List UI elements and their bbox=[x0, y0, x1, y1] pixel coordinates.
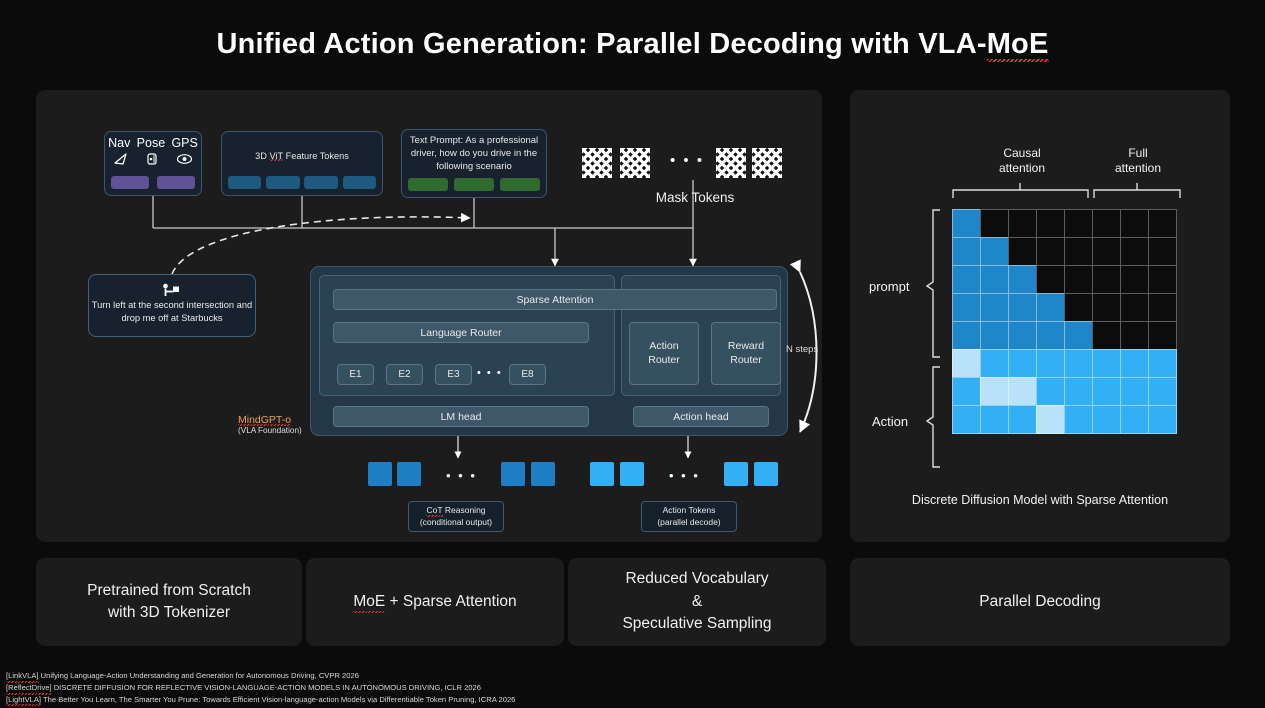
attention-cell bbox=[952, 321, 981, 350]
cot-output-token bbox=[531, 462, 555, 486]
attention-cell bbox=[1036, 237, 1065, 266]
cot-caption-subtitle: (conditional output) bbox=[420, 517, 492, 529]
footnote-tag: [ReflectDrive] bbox=[6, 682, 52, 694]
action-router-box: Action Router bbox=[629, 322, 699, 385]
attention-matrix-row bbox=[952, 377, 1176, 405]
attention-matrix-row bbox=[952, 265, 1176, 293]
mask-token bbox=[752, 148, 782, 178]
vla-model-block: Sparse Attention Language Router E1 E2 E… bbox=[310, 266, 788, 436]
text-token bbox=[500, 178, 540, 191]
summary-2-line2: & bbox=[692, 593, 702, 610]
attention-cell bbox=[1064, 265, 1093, 294]
attention-cell bbox=[1036, 349, 1065, 378]
attention-cell bbox=[980, 405, 1009, 434]
full-attention-line1: Full bbox=[1128, 146, 1147, 160]
causal-attention-line2: attention bbox=[999, 161, 1045, 175]
attention-cell bbox=[1092, 349, 1121, 378]
attention-cell bbox=[1148, 377, 1177, 406]
footnote-tag: [LinkVLA] bbox=[6, 670, 39, 682]
attention-cell bbox=[1036, 377, 1065, 406]
attention-cell bbox=[980, 321, 1009, 350]
language-router-bar: Language Router bbox=[333, 322, 589, 343]
attention-cell bbox=[980, 349, 1009, 378]
attention-cell bbox=[1008, 237, 1037, 266]
action-head-bar: Action head bbox=[633, 406, 769, 427]
vit-label-pre: 3D bbox=[255, 151, 269, 161]
attention-cell bbox=[952, 237, 981, 266]
attention-cell bbox=[1092, 405, 1121, 434]
attention-matrix-row bbox=[952, 321, 1176, 349]
attention-cell bbox=[1064, 209, 1093, 238]
reward-router-box: Reward Router bbox=[711, 322, 781, 385]
nav-header-gps: GPS bbox=[171, 136, 197, 150]
attention-cell bbox=[1092, 237, 1121, 266]
attention-cell bbox=[980, 209, 1009, 238]
nav-token bbox=[111, 176, 149, 189]
attention-cell bbox=[1008, 321, 1037, 350]
footnote-text: Unifying Language-Action Understanding a… bbox=[39, 671, 359, 680]
full-attention-line2: attention bbox=[1115, 161, 1161, 175]
causal-attention-label: Causal attention bbox=[952, 146, 1092, 176]
attention-cell bbox=[1008, 377, 1037, 406]
text-token bbox=[454, 178, 494, 191]
mask-token bbox=[620, 148, 650, 178]
attention-cell bbox=[980, 237, 1009, 266]
attention-cell bbox=[1120, 293, 1149, 322]
attention-cell bbox=[1148, 293, 1177, 322]
vit-label-post: Feature Tokens bbox=[283, 151, 349, 161]
attention-cell bbox=[1120, 265, 1149, 294]
attention-cell bbox=[980, 265, 1009, 294]
attention-cell bbox=[1008, 209, 1037, 238]
cot-caption-flagged: CoT bbox=[426, 505, 442, 517]
summary-1-flagged: MoE bbox=[353, 591, 385, 613]
vit-label-flagged: ViT bbox=[269, 151, 283, 161]
attention-matrix-row bbox=[952, 405, 1176, 433]
attention-cell bbox=[1008, 293, 1037, 322]
action-router-line1: Action bbox=[649, 340, 678, 352]
action-tokens-caption: Action Tokens (parallel decode) bbox=[641, 501, 737, 532]
attention-cell bbox=[952, 265, 981, 294]
action-caption-title: Action Tokens bbox=[663, 505, 716, 517]
attention-cell bbox=[1092, 321, 1121, 350]
attention-matrix-row bbox=[952, 237, 1176, 265]
nav-token-row bbox=[111, 176, 195, 189]
vit-token bbox=[228, 176, 261, 189]
action-output-token bbox=[590, 462, 614, 486]
mask-token bbox=[582, 148, 612, 178]
mask-tokens-caption: Mask Tokens bbox=[600, 190, 790, 205]
expert-e3: E3 bbox=[435, 364, 472, 385]
footnotes: [LinkVLA] Unifying Language-Action Under… bbox=[6, 670, 515, 705]
attention-cell bbox=[1148, 265, 1177, 294]
action-caption-subtitle: (parallel decode) bbox=[657, 517, 720, 529]
attention-cell bbox=[980, 377, 1009, 406]
full-attention-label: Full attention bbox=[1094, 146, 1182, 176]
attention-cell bbox=[1036, 321, 1065, 350]
summary-0-line2: with 3D Tokenizer bbox=[108, 604, 230, 621]
vit-token bbox=[343, 176, 376, 189]
vit-token bbox=[304, 176, 337, 189]
footnote-line: [ReflectDrive] DISCRETE DIFFUSION FOR RE… bbox=[6, 682, 515, 694]
cot-output-token bbox=[501, 462, 525, 486]
vit-token-row bbox=[228, 176, 376, 189]
action-router-line2: Router bbox=[648, 354, 680, 366]
prompt-row-label: prompt bbox=[869, 279, 909, 294]
attention-matrix bbox=[952, 209, 1176, 433]
page-title-text: Unified Action Generation: Parallel Deco… bbox=[216, 28, 986, 60]
experts-ellipsis: • • • bbox=[477, 367, 502, 379]
cube-icon bbox=[145, 152, 159, 171]
footnote-line: [LinkVLA] Unifying Language-Action Under… bbox=[6, 670, 515, 682]
slide-root: Unified Action Generation: Parallel Deco… bbox=[0, 0, 1265, 708]
summary-box-vocabulary: Reduced Vocabulary & Speculative Samplin… bbox=[568, 558, 826, 646]
mask-tokens-group: • • • bbox=[582, 148, 782, 180]
attention-cell bbox=[952, 377, 981, 406]
nav-token bbox=[157, 176, 195, 189]
text-token-row bbox=[408, 178, 540, 191]
eye-icon bbox=[176, 152, 193, 171]
footnote-line: [LightVLA] The Better You Learn, The Sma… bbox=[6, 694, 515, 706]
attention-cell bbox=[952, 293, 981, 322]
attention-cell bbox=[952, 209, 981, 238]
attention-cell bbox=[1064, 377, 1093, 406]
vit-token bbox=[266, 176, 299, 189]
action-tokens-ellipsis: • • • bbox=[669, 468, 700, 483]
nav-pose-gps-box: Nav Pose GPS bbox=[104, 131, 202, 196]
attention-cell bbox=[1064, 321, 1093, 350]
summary-box-moe: MoE + Sparse Attention bbox=[306, 558, 564, 646]
attention-cell bbox=[1120, 377, 1149, 406]
attention-cell bbox=[1036, 405, 1065, 434]
page-title: Unified Action Generation: Parallel Deco… bbox=[0, 28, 1265, 61]
cot-tokens-ellipsis: • • • bbox=[446, 468, 477, 483]
expert-e1: E1 bbox=[337, 364, 374, 385]
action-output-token bbox=[620, 462, 644, 486]
attention-cell bbox=[1036, 265, 1065, 294]
attention-cell bbox=[1148, 209, 1177, 238]
attention-cell bbox=[1120, 237, 1149, 266]
attention-cell bbox=[1064, 349, 1093, 378]
reward-router-line1: Reward bbox=[728, 340, 764, 352]
action-row-label: Action bbox=[872, 414, 908, 429]
cot-output-token bbox=[397, 462, 421, 486]
reward-router-line2: Router bbox=[730, 354, 762, 366]
page-title-flagged-word: MoE bbox=[987, 28, 1049, 61]
attention-cell bbox=[1148, 321, 1177, 350]
attention-cell bbox=[1036, 293, 1065, 322]
attention-cell bbox=[1092, 293, 1121, 322]
cone-icon bbox=[113, 152, 129, 171]
attention-cell bbox=[1148, 349, 1177, 378]
attention-matrix-row bbox=[952, 349, 1176, 377]
vit-box-label: 3D ViT Feature Tokens bbox=[222, 132, 382, 161]
summary-box-pretraining: Pretrained from Scratch with 3D Tokenize… bbox=[36, 558, 302, 646]
sparse-attention-bar: Sparse Attention bbox=[333, 289, 777, 310]
attention-cell bbox=[980, 293, 1009, 322]
attention-cell bbox=[1092, 377, 1121, 406]
attention-cell bbox=[952, 405, 981, 434]
text-token bbox=[408, 178, 448, 191]
attention-matrix-caption: Discrete Diffusion Model with Sparse Att… bbox=[850, 493, 1230, 507]
summary-3-line1: Parallel Decoding bbox=[979, 593, 1101, 610]
action-output-token bbox=[754, 462, 778, 486]
n-steps-label: N steps bbox=[786, 344, 818, 355]
summary-2-line3: Speculative Sampling bbox=[622, 615, 771, 632]
expert-e2: E2 bbox=[386, 364, 423, 385]
attention-cell bbox=[1008, 265, 1037, 294]
attention-cell bbox=[1120, 349, 1149, 378]
summary-1-rest: + Sparse Attention bbox=[385, 593, 516, 610]
causal-attention-line1: Causal bbox=[1003, 146, 1040, 160]
route-turn-icon bbox=[89, 282, 255, 303]
text-prompt-box: Text Prompt: As a professional driver, h… bbox=[401, 129, 547, 198]
nav-header-pose: Pose bbox=[137, 136, 166, 150]
mindgpt-name: MindGPT-o bbox=[238, 414, 291, 426]
attention-cell bbox=[1120, 405, 1149, 434]
attention-cell bbox=[952, 349, 981, 378]
action-output-token bbox=[724, 462, 748, 486]
attention-cell bbox=[1092, 209, 1121, 238]
attention-cell bbox=[1064, 405, 1093, 434]
attention-matrix-row bbox=[952, 293, 1176, 321]
attention-cell bbox=[1036, 209, 1065, 238]
attention-cell bbox=[1120, 209, 1149, 238]
summary-0-line1: Pretrained from Scratch bbox=[87, 582, 251, 599]
attention-cell bbox=[1148, 405, 1177, 434]
navigation-instruction-box: Turn left at the second intersection and… bbox=[88, 274, 256, 337]
attention-cell bbox=[1008, 349, 1037, 378]
attention-cell bbox=[1092, 265, 1121, 294]
attention-matrix-row bbox=[952, 209, 1176, 237]
footnote-text: The Better You Learn, The Smarter You Pr… bbox=[41, 695, 515, 704]
mindgpt-subtitle: (VLA Foundation) bbox=[238, 426, 302, 435]
attention-cell bbox=[1148, 237, 1177, 266]
nav-header-nav: Nav bbox=[108, 136, 130, 150]
mindgpt-brand: MindGPT-o (VLA Foundation) bbox=[238, 414, 302, 435]
attention-cell bbox=[1064, 237, 1093, 266]
footnote-tag: [LightVLA] bbox=[6, 694, 41, 706]
vit-feature-tokens-box: 3D ViT Feature Tokens bbox=[221, 131, 383, 196]
lm-head-bar: LM head bbox=[333, 406, 589, 427]
cot-output-token bbox=[368, 462, 392, 486]
footnote-text: DISCRETE DIFFUSION FOR REFLECTIVE VISION… bbox=[52, 683, 481, 692]
summary-box-parallel-decoding: Parallel Decoding bbox=[850, 558, 1230, 646]
attention-cell bbox=[1064, 293, 1093, 322]
cot-caption-rest: Reasoning bbox=[443, 505, 486, 515]
cot-reasoning-caption: CoT Reasoning (conditional output) bbox=[408, 501, 504, 532]
expert-e8: E8 bbox=[509, 364, 546, 385]
mask-token bbox=[716, 148, 746, 178]
attention-cell bbox=[1008, 405, 1037, 434]
attention-cell bbox=[1120, 321, 1149, 350]
summary-2-line1: Reduced Vocabulary bbox=[625, 570, 768, 587]
text-prompt-label: Text Prompt: As a professional driver, h… bbox=[402, 130, 546, 173]
